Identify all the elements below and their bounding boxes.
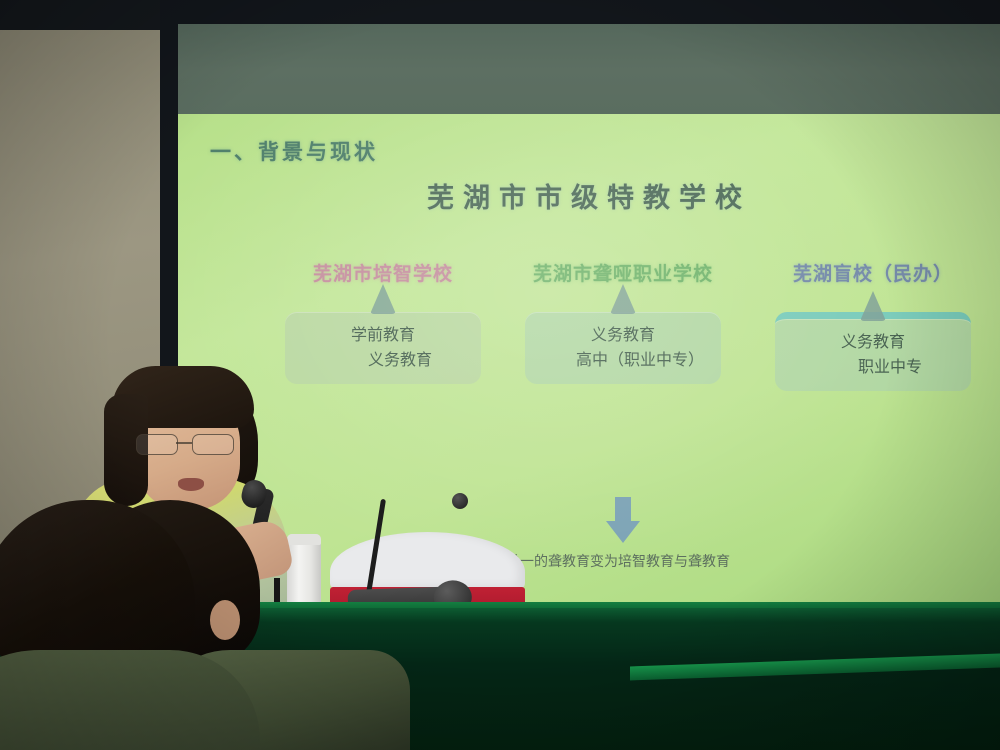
callout-tail-icon bbox=[610, 284, 636, 314]
column-heading: 芜湖市聋哑职业学校 bbox=[498, 259, 748, 286]
column-callout-bubble: 义务教育 职业中专 bbox=[775, 312, 971, 391]
gooseneck-microphone-capsule bbox=[452, 493, 468, 509]
column-callout-bubble: 学前教育 义务教育 bbox=[285, 312, 481, 384]
column-heading: 芜湖市培智学校 bbox=[258, 259, 508, 286]
callout-text: 义务教育 职业中专 bbox=[775, 329, 971, 379]
callout-line: 义务教育 bbox=[525, 322, 721, 347]
callout-tail-icon bbox=[370, 284, 396, 314]
projection-screen-top-band bbox=[178, 24, 1000, 116]
callout-text: 义务教育 高中（职业中专） bbox=[525, 322, 721, 372]
presenter-glasses-icon bbox=[134, 434, 242, 454]
slide-column-longya: 芜湖市聋哑职业学校 义务教育 高中（职业中专） 单一的聋教育变为培智教育与聋教育 bbox=[498, 259, 748, 384]
slide-column-mangxiao: 芜湖盲校（民办） 义务教育 职业中专 bbox=[748, 259, 998, 391]
callout-text: 学前教育 义务教育 bbox=[285, 322, 481, 372]
slide-section-heading: 一、背景与现状 bbox=[210, 136, 378, 166]
callout-tail-icon bbox=[860, 291, 886, 321]
presenter-mouth bbox=[178, 478, 204, 491]
table-front-panel bbox=[640, 664, 1000, 750]
slide-title: 芜湖市市级特教学校 bbox=[178, 176, 1000, 215]
down-arrow-icon bbox=[606, 497, 640, 543]
callout-line: 职业中专 bbox=[775, 354, 971, 379]
column-callout-bubble: 义务教育 高中（职业中专） bbox=[525, 312, 721, 384]
callout-line: 义务教育 bbox=[775, 329, 971, 354]
callout-line: 义务教育 bbox=[285, 347, 481, 372]
callout-line: 学前教育 bbox=[285, 322, 481, 347]
slide-note: 单一的聋教育变为培智教育与聋教育 bbox=[488, 551, 776, 573]
callout-line: 高中（职业中专） bbox=[525, 347, 721, 372]
audience-member-left bbox=[0, 500, 210, 750]
column-heading: 芜湖盲校（民办） bbox=[748, 259, 998, 286]
photo-scene: 一、背景与现状 芜湖市市级特教学校 芜湖市培智学校 学前教育 义务教育 bbox=[0, 0, 1000, 750]
